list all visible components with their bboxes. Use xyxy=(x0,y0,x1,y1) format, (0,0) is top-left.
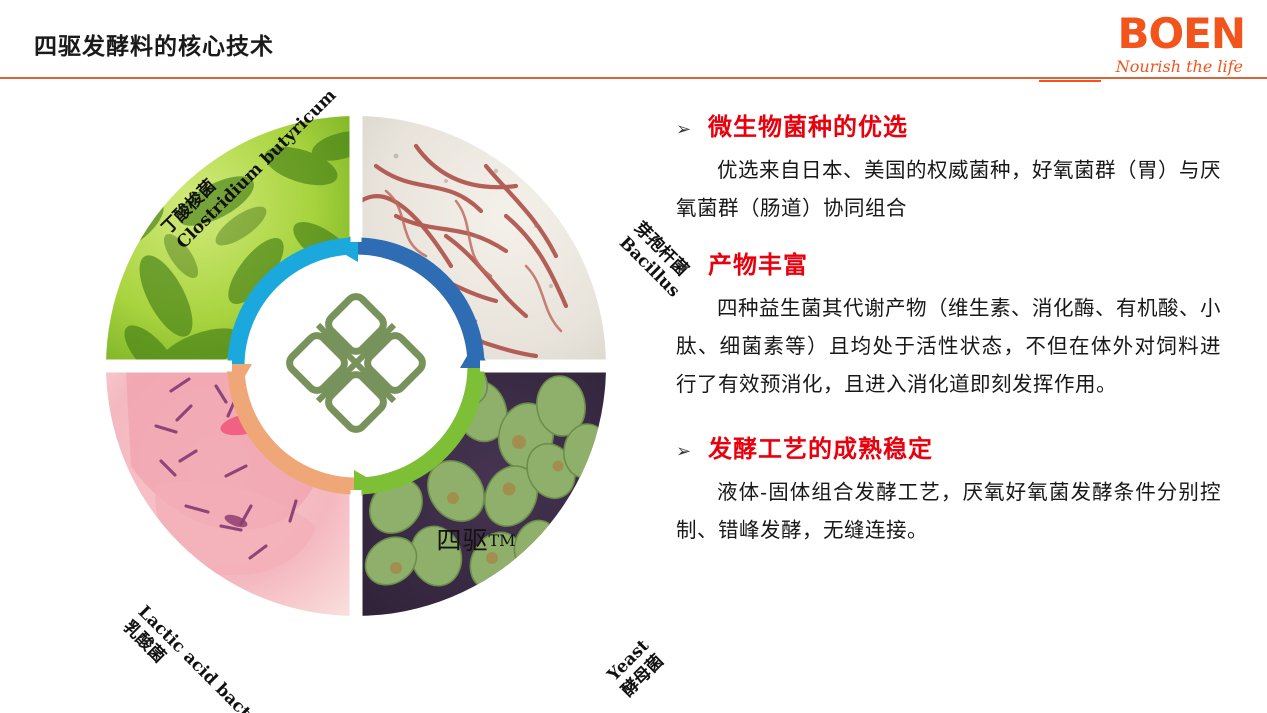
section-body-1: 优选来自日本、美国的权威菌种，好氧菌群（胃）与厌氧菌群（肠道）协同组合 xyxy=(676,152,1221,228)
content-panel: ➢ 微生物菌种的优选 优选来自日本、美国的权威菌种，好氧菌群（胃）与厌氧菌群（肠… xyxy=(676,112,1221,549)
slide-header: 四驱发酵料的核心技术 BOEN Nourish the life xyxy=(0,0,1267,78)
section-body-3: 液体-固体组合发酵工艺，厌氧好氧菌发酵条件分别控制、错峰发酵，无缝连接。 xyxy=(676,474,1221,550)
chevron-right-icon: ➢ xyxy=(676,121,694,139)
logo-underline xyxy=(1039,80,1101,82)
chevron-right-icon: ➢ xyxy=(676,259,694,277)
content-section-1: ➢ 微生物菌种的优选 优选来自日本、美国的权威菌种，好氧菌群（胃）与厌氧菌群（肠… xyxy=(676,112,1221,228)
label-yeast: Yeast 酵母菌 xyxy=(603,636,668,701)
logo-tagline: Nourish the life xyxy=(1116,57,1243,76)
brand-logo: BOEN Nourish the life xyxy=(1061,12,1251,78)
section-heading-1: 微生物菌种的优选 xyxy=(708,112,908,142)
chevron-right-icon: ➢ xyxy=(676,443,694,461)
content-section-2: ➢ 产物丰富 四种益生菌其代谢产物（维生素、消化酶、有机酸、小肽、细菌素等）且均… xyxy=(676,250,1221,404)
four-quadrant-diagram: 丁酸梭菌 Clostridium butyricum 芽孢杆菌 Bacillus… xyxy=(96,106,616,626)
header-divider xyxy=(0,77,1267,79)
section-heading-3: 发酵工艺的成熟稳定 xyxy=(708,434,933,464)
bullet-row-2: ➢ 产物丰富 xyxy=(676,250,1221,280)
spacer-2 xyxy=(676,420,1221,434)
center-brand-text: 四驱TM xyxy=(393,521,559,557)
section-heading-2: 产物丰富 xyxy=(708,250,808,280)
center-brand-cn: 四驱 xyxy=(436,526,488,555)
bullet-row-1: ➢ 微生物菌种的优选 xyxy=(676,112,1221,142)
content-section-3: ➢ 发酵工艺的成熟稳定 液体-固体组合发酵工艺，厌氧好氧菌发酵条件分别控制、错峰… xyxy=(676,434,1221,550)
logo-wordmark: BOEN xyxy=(1117,12,1245,56)
bullet-row-3: ➢ 发酵工艺的成熟稳定 xyxy=(676,434,1221,464)
section-body-2: 四种益生菌其代谢产物（维生素、消化酶、有机酸、小肽、细菌素等）且均处于活性状态，… xyxy=(676,290,1221,404)
page-title: 四驱发酵料的核心技术 xyxy=(34,27,274,61)
center-brand-tm: TM xyxy=(488,531,515,550)
slide: 四驱发酵料的核心技术 BOEN Nourish the life xyxy=(0,0,1267,713)
